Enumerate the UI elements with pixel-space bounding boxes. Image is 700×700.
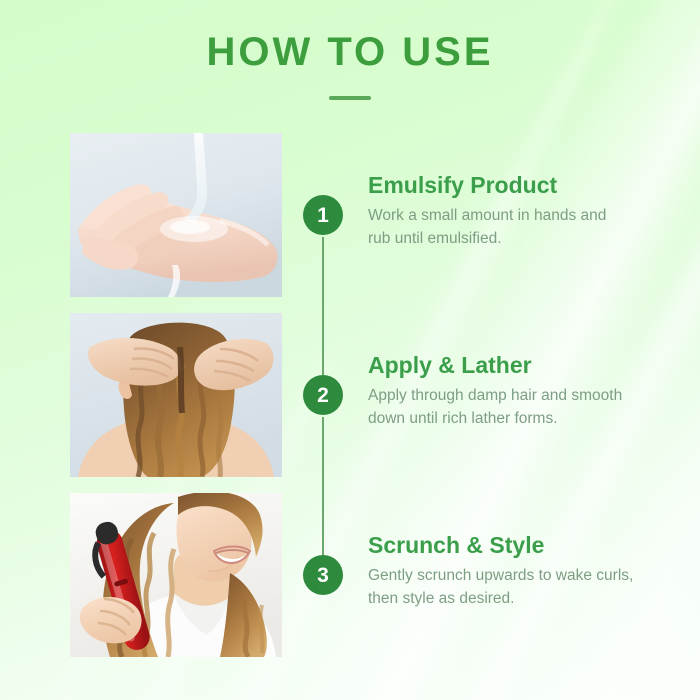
timeline-connector bbox=[322, 237, 324, 375]
list-item: 1 Emulsify Product Work a small amount i… bbox=[0, 133, 700, 313]
step-text-column: Apply & Lather Apply through damp hair a… bbox=[368, 353, 688, 430]
styling-curls-photo bbox=[70, 493, 282, 657]
title-underline-rule bbox=[329, 96, 371, 100]
step-body-line-2: down until rich lather forms. bbox=[368, 408, 688, 430]
step-body: Gently scrunch upwards to wake curls, th… bbox=[368, 565, 688, 610]
step-body-line-1: Apply through damp hair and smooth bbox=[368, 385, 688, 407]
step-body-line-1: Gently scrunch upwards to wake curls, bbox=[368, 565, 688, 587]
page-title: HOW TO USE bbox=[0, 32, 700, 72]
hands-with-product-photo bbox=[70, 133, 282, 297]
applying-to-hair-photo bbox=[70, 313, 282, 477]
step-number-badge: 3 bbox=[303, 555, 343, 595]
step-text-column: Emulsify Product Work a small amount in … bbox=[368, 173, 688, 250]
list-item: 2 Apply & Lather Apply through damp hair… bbox=[0, 313, 700, 493]
step-number-badge: 2 bbox=[303, 375, 343, 415]
step-body-line-1: Work a small amount in hands and bbox=[368, 205, 688, 227]
timeline-connector bbox=[322, 417, 324, 555]
list-item: 3 Scrunch & Style Gently scrunch upwards… bbox=[0, 493, 700, 673]
step-number-badge: 1 bbox=[303, 195, 343, 235]
step-heading: Emulsify Product bbox=[368, 173, 688, 198]
step-text-column: Scrunch & Style Gently scrunch upwards t… bbox=[368, 533, 688, 610]
how-to-use-poster: HOW TO USE bbox=[0, 0, 700, 700]
title-block: HOW TO USE bbox=[0, 32, 700, 100]
step-body-line-2: rub until emulsified. bbox=[368, 228, 688, 250]
step-body: Apply through damp hair and smooth down … bbox=[368, 385, 688, 430]
step-body: Work a small amount in hands and rub unt… bbox=[368, 205, 688, 250]
step-heading: Scrunch & Style bbox=[368, 533, 688, 558]
step-heading: Apply & Lather bbox=[368, 353, 688, 378]
steps-list: 1 Emulsify Product Work a small amount i… bbox=[0, 133, 700, 673]
step-body-line-2: then style as desired. bbox=[368, 588, 688, 610]
